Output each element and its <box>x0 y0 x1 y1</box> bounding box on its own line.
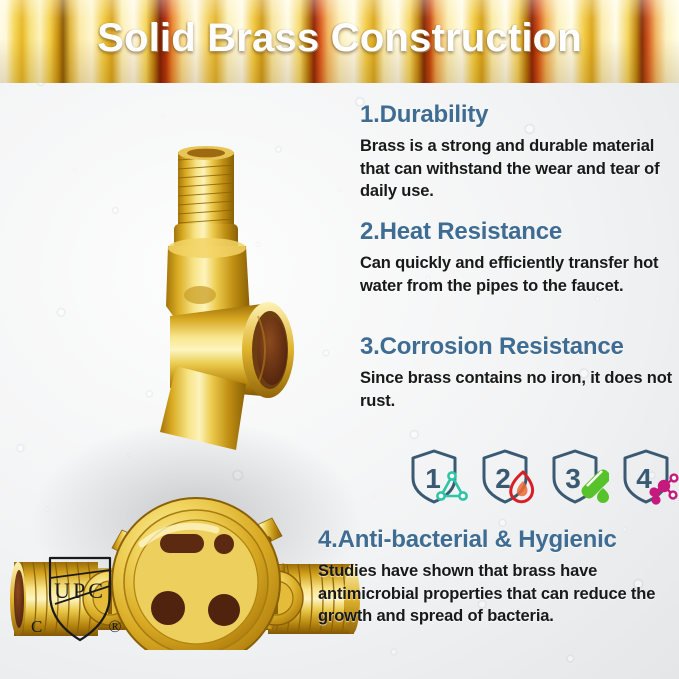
badge-4[interactable]: 4 <box>620 448 679 506</box>
badge-2[interactable]: 2 <box>479 448 539 506</box>
hub-hole-left <box>151 591 185 625</box>
feature-body: Studies have shown that brass have antim… <box>318 560 679 628</box>
certification-badge-row: 1 2 <box>408 447 679 507</box>
feature-anti-bacterial: 4.Anti-bacterial & Hygienic Studies have… <box>318 525 679 628</box>
molecule-chain-icon <box>650 475 677 504</box>
flame-icon <box>510 472 532 502</box>
badge-number: 2 <box>495 463 511 494</box>
upc-registered-mark: ® <box>109 617 122 636</box>
feature-heat-resistance: 2.Heat Resistance Can quickly and effici… <box>360 217 679 297</box>
feature-heading: 2.Heat Resistance <box>360 217 679 247</box>
header-banner: Solid Brass Construction <box>0 0 679 83</box>
feature-heading: 3.Corrosion Resistance <box>360 332 679 362</box>
badge-number: 3 <box>565 463 581 494</box>
page-title: Solid Brass Construction <box>0 16 679 61</box>
top-threaded-port <box>174 146 238 254</box>
upc-prefix-text: C <box>31 617 42 636</box>
badge-1[interactable]: 1 <box>408 448 468 506</box>
feature-durability: 1.Durability Brass is a strong and durab… <box>360 100 679 203</box>
hub-small-hole <box>214 534 234 554</box>
feature-body: Brass is a strong and durable material t… <box>360 135 679 203</box>
upc-mark-text: UPC <box>54 578 106 603</box>
feature-body: Since brass contains no iron, it does no… <box>360 367 679 412</box>
badge-number: 1 <box>425 463 441 494</box>
badge-number: 4 <box>636 463 652 494</box>
feature-heading: 1.Durability <box>360 100 679 130</box>
feature-body: Can quickly and efficiently transfer hot… <box>360 252 679 297</box>
infographic-page: Solid Brass Construction <box>0 0 679 679</box>
feature-corrosion-resistance: 3.Corrosion Resistance Since brass conta… <box>360 332 679 412</box>
feature-heading: 4.Anti-bacterial & Hygienic <box>318 525 679 555</box>
hub-hole-right <box>208 594 240 626</box>
badge-3[interactable]: 3 <box>549 448 609 506</box>
hub-oval-slot <box>160 534 204 553</box>
valve-hub-face <box>112 498 280 650</box>
upc-certification-logo: UPC C ® <box>22 548 134 648</box>
